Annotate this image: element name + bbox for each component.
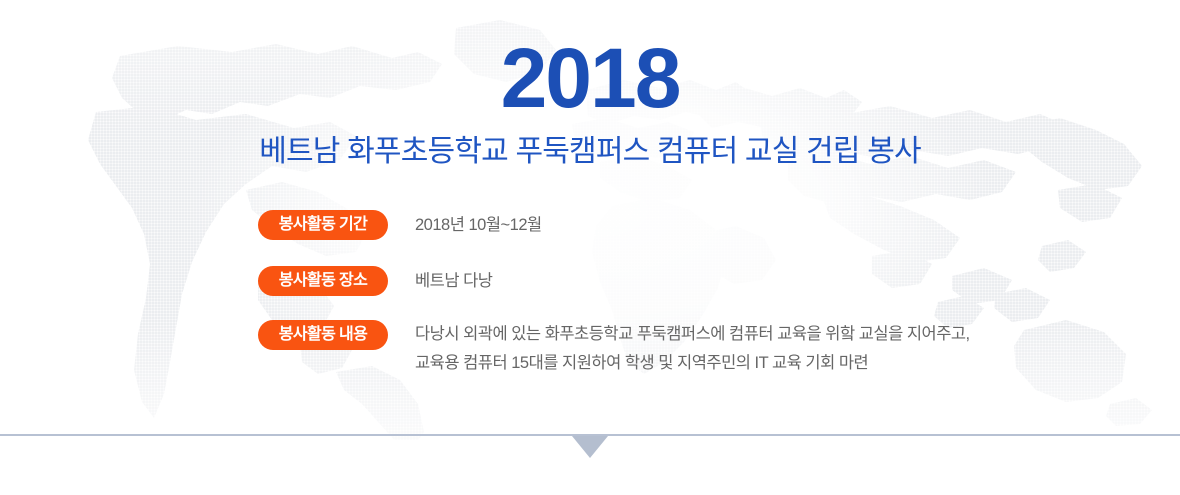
description-line-1: 다낭시 외곽에 있는 화푸초등학교 푸둑캠퍼스에 컴퓨터 교육을 위핰 교실을 … [415,320,1058,349]
info-row-period: 봉사활동 기간 2018년 10월~12월 [258,210,1058,240]
info-value-period: 2018년 10월~12월 [415,210,1058,240]
banner-content: 2018 베트남 화푸초등학교 푸둑캠퍼스 컴퓨터 교실 건립 봉사 봉사활동 … [0,0,1180,440]
down-triangle-icon [572,436,608,458]
info-value-description: 다낭시 외곽에 있는 화푸초등학교 푸둑캠퍼스에 컴퓨터 교육을 위핰 교실을 … [415,320,1058,378]
info-row-description: 봉사활동 내용 다낭시 외곽에 있는 화푸초등학교 푸둑캠퍼스에 컴퓨터 교육을… [258,320,1058,378]
year-title: 2018 [0,36,1180,120]
info-row-location: 봉사활동 장소 베트남 다낭 [258,266,1058,296]
info-list: 봉사활동 기간 2018년 10월~12월 봉사활동 장소 베트남 다낭 봉사활… [258,210,1058,378]
info-value-location: 베트남 다낭 [415,266,1058,296]
banner-section: 2018 베트남 화푸초등학교 푸둑캠퍼스 컴퓨터 교실 건립 봉사 봉사활동 … [0,0,1180,495]
badge-description-label: 봉사활동 내용 [258,320,388,350]
badge-location-label: 봉사활동 장소 [258,266,388,296]
badge-period-label: 봉사활동 기간 [258,210,388,240]
banner-subtitle: 베트남 화푸초등학교 푸둑캠퍼스 컴퓨터 교실 건립 봉사 [0,133,1180,171]
description-line-2: 교육용 컴퓨터 15대를 지원하여 학생 및 지역주민의 IT 교육 기회 마련 [415,349,1058,378]
